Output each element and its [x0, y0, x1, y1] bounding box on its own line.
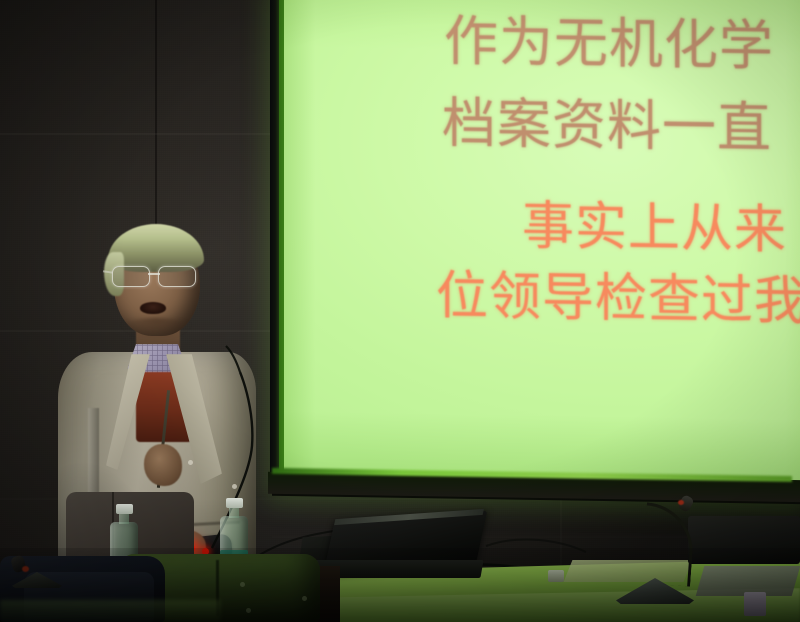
microphone-indicator-icon [22, 566, 29, 572]
bag-stud [246, 608, 251, 613]
projector-equipment-box [688, 516, 800, 564]
glasses-lens-left [112, 266, 150, 287]
screen-bezel-left [270, 0, 279, 490]
glasses-lens-right [158, 266, 196, 287]
slide-line-4: 位领导检查过我 [436, 253, 800, 334]
table-floor-glow [0, 600, 220, 622]
slide-line-1: 作为无机化学 [444, 0, 774, 81]
slide-line-3: 事实上从来 [522, 184, 787, 263]
mouth [140, 302, 166, 314]
microphone-indicator-icon [678, 500, 684, 505]
face-shading [118, 318, 194, 340]
lecture-photo: 作为无机化学 档案资料一直 事实上从来 位领导检查过我 [0, 0, 800, 622]
glasses-bridge [148, 273, 160, 275]
cable-tag [548, 570, 564, 582]
projection-screen: 作为无机化学 档案资料一直 事实上从来 位领导检查过我 [284, 0, 800, 488]
bottle-cap [116, 504, 133, 514]
slide-text-block: 作为无机化学 档案资料一直 事实上从来 位领导检查过我 [284, 0, 800, 488]
bottle-cap [226, 498, 243, 508]
glasses [110, 266, 204, 286]
slide-line-2: 档案资料一直 [442, 78, 772, 162]
small-device [744, 592, 766, 616]
bag-stud [302, 596, 307, 601]
bag-stud [240, 582, 245, 587]
hand-upper [144, 444, 182, 486]
